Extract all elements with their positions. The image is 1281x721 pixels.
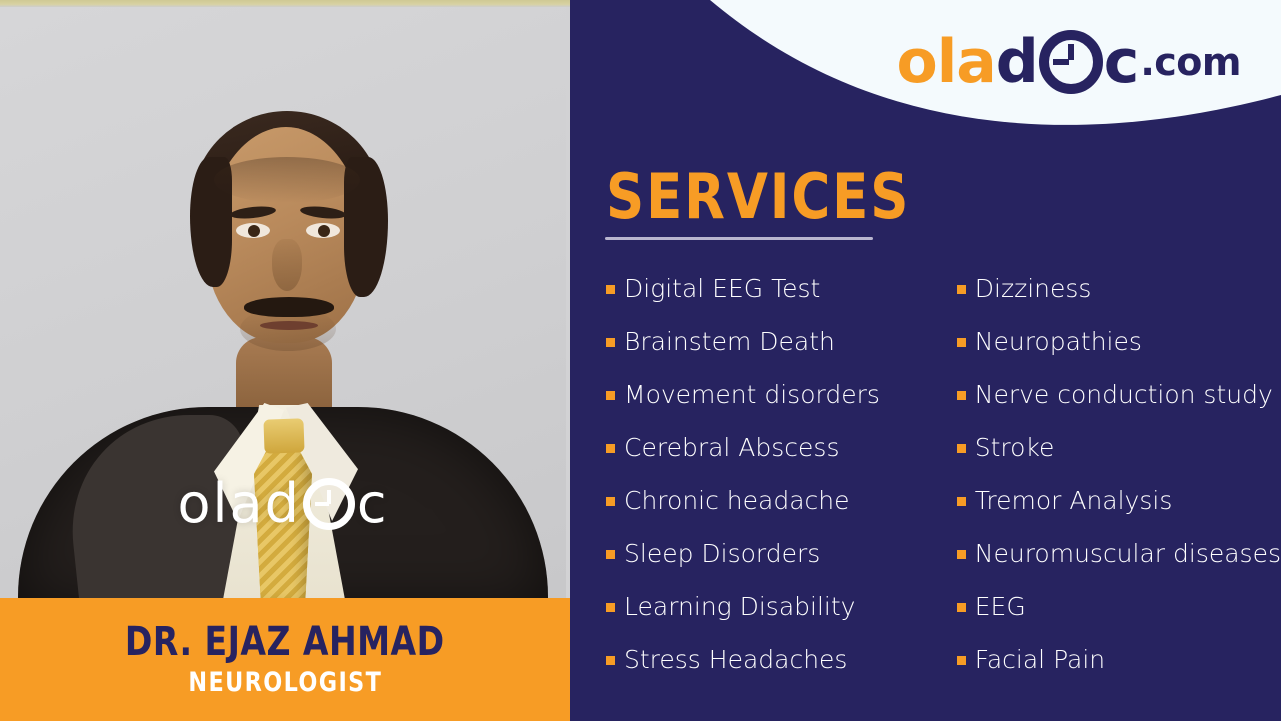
service-item[interactable]: Brainstem Death: [606, 329, 939, 382]
doctor-photo-panel: olad c DR. EJAZ AHMAD NEUROLOGIST: [0, 0, 570, 721]
circle-plus-icon: [303, 478, 355, 530]
bullet-square-icon: [957, 603, 966, 612]
portrait-moustache: [244, 297, 334, 317]
portrait-pupil-left: [248, 225, 260, 237]
service-item[interactable]: Stroke: [957, 435, 1281, 488]
service-label: Neuromuscular diseases: [975, 541, 1281, 566]
service-label: Brainstem Death: [624, 329, 835, 354]
service-label: Digital EEG Test: [624, 276, 820, 301]
service-item[interactable]: Neuromuscular diseases: [957, 541, 1281, 594]
service-item[interactable]: Tremor Analysis: [957, 488, 1281, 541]
service-label: Cerebral Abscess: [624, 435, 839, 460]
doctor-specialty: NEUROLOGIST: [188, 669, 382, 697]
services-heading: SERVICES: [606, 166, 910, 228]
service-item[interactable]: Facial Pain: [957, 647, 1281, 700]
bullet-square-icon: [957, 391, 966, 400]
service-item[interactable]: Chronic headache: [606, 488, 939, 541]
portrait-forehead-shading: [214, 157, 360, 203]
services-panel: ola d c .com SERVICES Digital EEG Test B…: [570, 0, 1281, 721]
bullet-square-icon: [606, 656, 615, 665]
service-item[interactable]: Stress Headaches: [606, 647, 939, 700]
portrait-nose: [272, 239, 302, 291]
bullet-square-icon: [606, 285, 615, 294]
bullet-square-icon: [957, 338, 966, 347]
portrait-pupil-right: [318, 225, 330, 237]
services-column-right: Dizziness Neuropathies Nerve conduction …: [939, 276, 1281, 706]
portrait-necktie-knot: [263, 418, 304, 453]
service-label: Learning Disability: [624, 594, 855, 619]
service-item[interactable]: EEG: [957, 594, 1281, 647]
service-label: Stress Headaches: [624, 647, 847, 672]
oladoc-logo[interactable]: ola d c .com: [897, 30, 1241, 94]
logo-text-com: .com: [1140, 43, 1241, 81]
bullet-square-icon: [606, 603, 615, 612]
service-label: Stroke: [975, 435, 1055, 460]
service-label: Facial Pain: [975, 647, 1105, 672]
circle-plus-icon: [1039, 30, 1103, 94]
services-column-left: Digital EEG Test Brainstem Death Movemen…: [570, 276, 939, 706]
doctor-name: DR. EJAZ AHMAD: [125, 621, 445, 663]
services-heading-underline: [605, 237, 873, 240]
service-item[interactable]: Movement disorders: [606, 382, 939, 435]
logo-text-ola: ola: [897, 32, 996, 92]
service-label: Movement disorders: [624, 382, 880, 407]
bullet-square-icon: [957, 497, 966, 506]
bullet-square-icon: [957, 444, 966, 453]
service-label: Sleep Disorders: [624, 541, 820, 566]
bullet-square-icon: [957, 285, 966, 294]
bullet-square-icon: [606, 444, 615, 453]
service-item[interactable]: Learning Disability: [606, 594, 939, 647]
service-label: Dizziness: [975, 276, 1092, 301]
services-list: Digital EEG Test Brainstem Death Movemen…: [570, 276, 1281, 706]
bullet-square-icon: [957, 550, 966, 559]
service-label: Nerve conduction study: [975, 382, 1273, 407]
logo-text-c: c: [1104, 32, 1139, 92]
service-label: Tremor Analysis: [975, 488, 1173, 513]
service-item[interactable]: Sleep Disorders: [606, 541, 939, 594]
oladoc-photo-watermark: olad c: [0, 477, 566, 531]
service-item[interactable]: Dizziness: [957, 276, 1281, 329]
doctor-name-banner: DR. EJAZ AHMAD NEUROLOGIST: [0, 598, 570, 721]
poster-canvas: olad c DR. EJAZ AHMAD NEUROLOGIST ola d …: [0, 0, 1281, 721]
doctor-portrait-photo: olad c: [0, 7, 566, 598]
service-label: Chronic headache: [624, 488, 850, 513]
service-label: EEG: [975, 594, 1026, 619]
bullet-square-icon: [957, 656, 966, 665]
watermark-text-part1: olad: [177, 477, 300, 531]
service-item[interactable]: Digital EEG Test: [606, 276, 939, 329]
service-label: Neuropathies: [975, 329, 1142, 354]
service-item[interactable]: Neuropathies: [957, 329, 1281, 382]
bullet-square-icon: [606, 497, 615, 506]
bullet-square-icon: [606, 550, 615, 559]
bullet-square-icon: [606, 391, 615, 400]
top-accent-strip: [0, 0, 570, 7]
portrait-mouth: [260, 321, 318, 330]
logo-text-d: d: [996, 32, 1038, 92]
bullet-square-icon: [606, 338, 615, 347]
service-item[interactable]: Nerve conduction study: [957, 382, 1281, 435]
watermark-text-part2: c: [357, 477, 389, 531]
service-item[interactable]: Cerebral Abscess: [606, 435, 939, 488]
